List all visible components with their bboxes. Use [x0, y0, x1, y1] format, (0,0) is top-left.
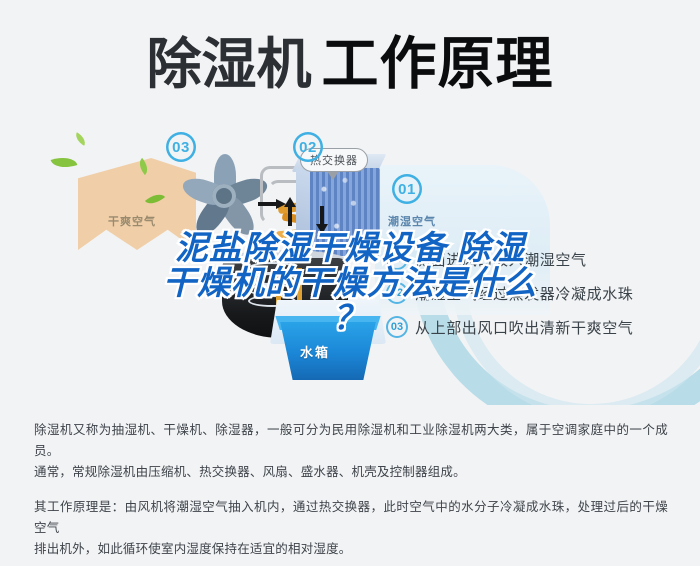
page-title: 除湿机 工作原理 [0, 26, 700, 102]
diagram-badge-01: 01 [392, 174, 422, 204]
arrow-stem [288, 206, 292, 226]
page-root: 除湿机 工作原理 干爽空气 [0, 0, 700, 566]
diagram-legend: 01 侧面进风口吸入潮湿空气 02 潮湿空气经过蒸发器冷凝成水珠 03 从上部出… [386, 242, 686, 344]
arrow-head [316, 224, 328, 234]
leaf-icon [73, 132, 88, 145]
leaf-icon [51, 153, 78, 173]
dehumidifier-diagram: 干爽空气 热交换器 [0, 110, 700, 405]
dry-air-label: 干爽空气 [108, 213, 156, 229]
fan-hub [212, 184, 236, 208]
article-body: 除湿机又称为抽湿机、干燥机、除湿器，一般可分为民用除湿机和工业除湿机两大类，属于… [34, 420, 668, 560]
paragraph-spacer [34, 483, 668, 497]
arrow-stem [320, 206, 324, 226]
legend-item: 02 潮湿空气经过蒸发器冷凝成水珠 [386, 276, 686, 310]
legend-item: 03 从上部出风口吹出清新干爽空气 [386, 310, 686, 344]
paragraph-2-line-1: 其工作原理是：由风机将潮湿空气抽入机内，通过热交换器，此时空气中的水分子冷凝成水… [34, 497, 668, 539]
humid-air-label: 潮湿空气 [388, 213, 436, 229]
legend-item: 01 侧面进风口吸入潮湿空气 [386, 242, 686, 276]
paragraph-2-line-2: 排出机外，如此循环使室内湿度保持在适宜的相对湿度。 [34, 539, 668, 560]
diagram-badge-03: 03 [166, 132, 196, 162]
page-title-secondary: 工作原理 [322, 36, 554, 93]
legend-badge-03: 03 [386, 316, 408, 338]
legend-text-01: 侧面进风口吸入潮湿空气 [415, 249, 587, 270]
arrow-head [284, 197, 296, 207]
water-tank-label: 水箱 [300, 342, 330, 361]
paragraph-1-line-1: 除湿机又称为抽湿机、干燥机、除湿器，一般可分为民用除湿机和工业除湿机两大类，属于… [34, 420, 668, 462]
legend-text-02: 潮湿空气经过蒸发器冷凝成水珠 [415, 283, 633, 304]
fan-illustration [178, 150, 270, 242]
legend-badge-01: 01 [386, 248, 408, 270]
diagram-badge-02: 02 [293, 132, 323, 162]
paragraph-1-line-2: 通常，常规除湿机由压缩机、热交换器、风扇、盛水器、机壳及控制器组成。 [34, 462, 668, 483]
legend-badge-02: 02 [386, 282, 408, 304]
arrow-stem [258, 202, 278, 206]
legend-text-03: 从上部出风口吹出清新干爽空气 [415, 317, 633, 338]
page-title-primary: 除湿机 [146, 37, 311, 92]
